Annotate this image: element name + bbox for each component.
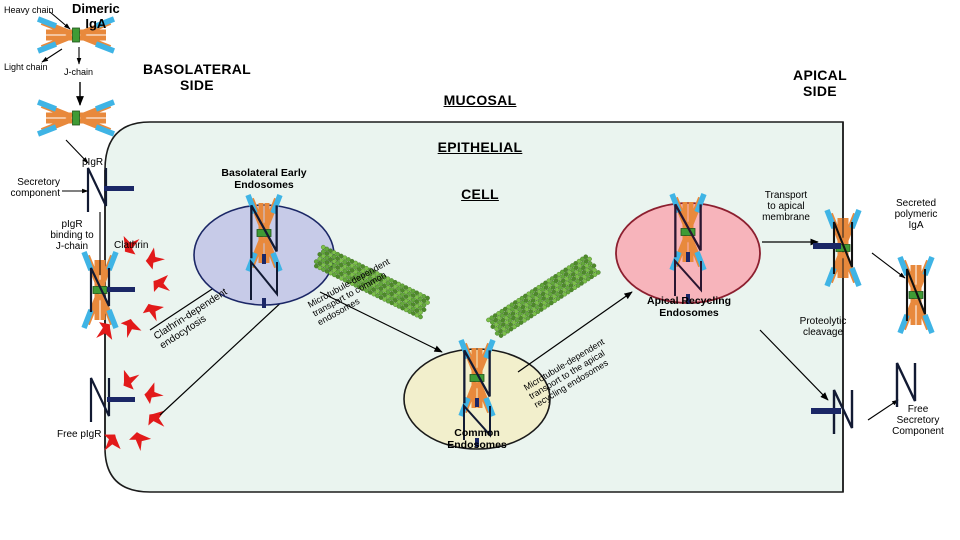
proteolytic-cleavage-label: Proteolytic cleavage	[780, 316, 866, 338]
free-pigr-label: Free pIgR	[57, 429, 101, 440]
proteolytic-cleavage-arrow	[872, 253, 905, 278]
free-secretory-component-label: Free Secretory Component	[876, 404, 960, 438]
diagram-canvas: Heavy chain Dimeric IgA Light chain J-ch…	[0, 0, 960, 540]
basolateral-side-label: BASOLATERAL SIDE	[132, 62, 262, 93]
j-chain-label: J-chain	[64, 67, 93, 77]
apical-side-label: APICAL SIDE	[760, 68, 880, 99]
transport-apical-membrane-label: Transport to apical membrane	[748, 190, 824, 224]
heavy-chain-label: Heavy chain	[4, 5, 54, 15]
light-chain-label: Light chain	[4, 62, 48, 72]
mucosal-line-3: CELL	[461, 186, 499, 202]
clathrin-label: Clathrin	[114, 240, 148, 251]
basolateral-early-endosomes-label: Basolateral Early Endosomes	[199, 168, 329, 192]
free-secretory-component	[897, 363, 915, 407]
secreted-polymeric-iga	[900, 257, 932, 333]
pigr-label: pIgR	[82, 157, 103, 168]
common-endosomes-label: Common Endosomes	[414, 428, 540, 452]
mucosal-epithelial-cell-label: MUCOSAL EPITHELIAL CELL	[400, 62, 560, 234]
mucosal-line-1: MUCOSAL	[444, 92, 517, 108]
mucosal-line-2: EPITHELIAL	[438, 139, 523, 155]
pigr-binding-label: pIgR binding to J-chain	[38, 219, 106, 253]
dimeric-iga-label: Dimeric IgA	[72, 2, 120, 31]
secretory-component-label: Secretory component	[0, 177, 60, 199]
dimeric-iga-second	[38, 102, 114, 134]
apical-recycling-endosomes-label: Apical Recycling Endosomes	[624, 296, 754, 320]
secreted-polymeric-iga-label: Secreted polymeric IgA	[876, 198, 956, 232]
